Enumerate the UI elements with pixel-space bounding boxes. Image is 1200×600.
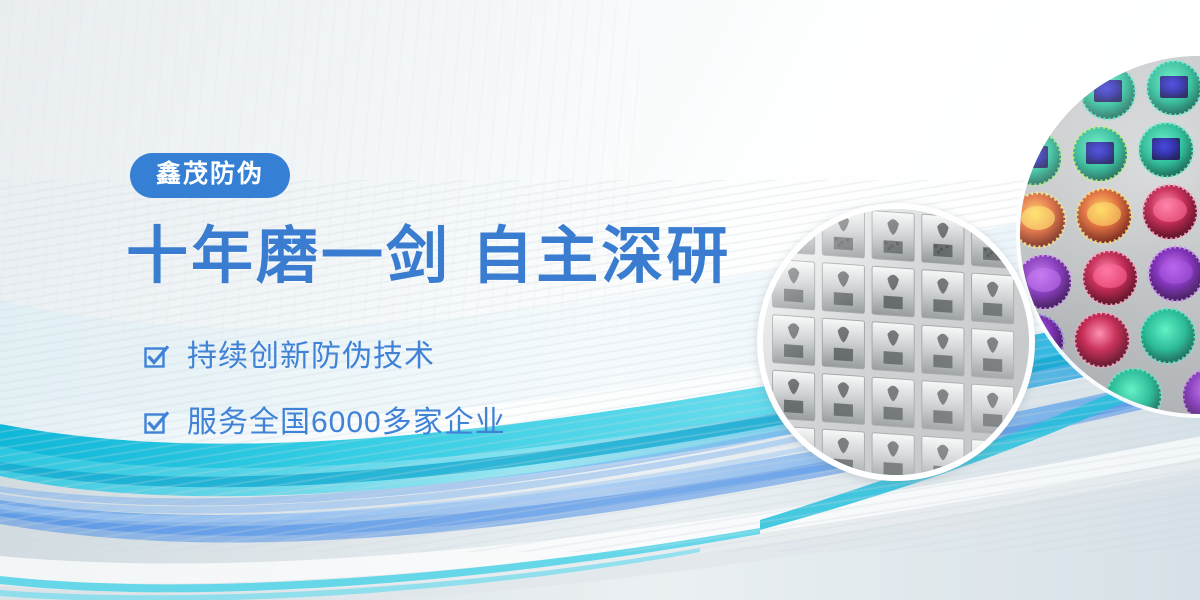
feature-list: 持续创新防伪技术 服务全国6000多家企业 <box>143 334 506 466</box>
page-title: 十年磨一剑 自主深研 <box>126 224 731 291</box>
holographic-labels-photo <box>1020 56 1200 414</box>
security-label-sheet-art <box>763 209 1029 475</box>
list-item: 持续创新防伪技术 <box>143 334 506 380</box>
checkbox-checked-icon <box>143 344 169 370</box>
list-item-label: 服务全国6000多家企业 <box>187 408 506 438</box>
list-item-label: 持续创新防伪技术 <box>187 342 435 372</box>
checkbox-checked-icon <box>143 410 169 436</box>
brand-badge: 鑫茂防伪 <box>130 153 290 198</box>
promo-banner: 鑫茂防伪 十年磨一剑 自主深研 持续创新防伪技术 服务全国6000多家企业 <box>0 0 1200 600</box>
security-label-sheet-photo <box>757 203 1035 481</box>
list-item: 服务全国6000多家企业 <box>143 400 506 446</box>
holographic-labels-art <box>1020 56 1200 414</box>
